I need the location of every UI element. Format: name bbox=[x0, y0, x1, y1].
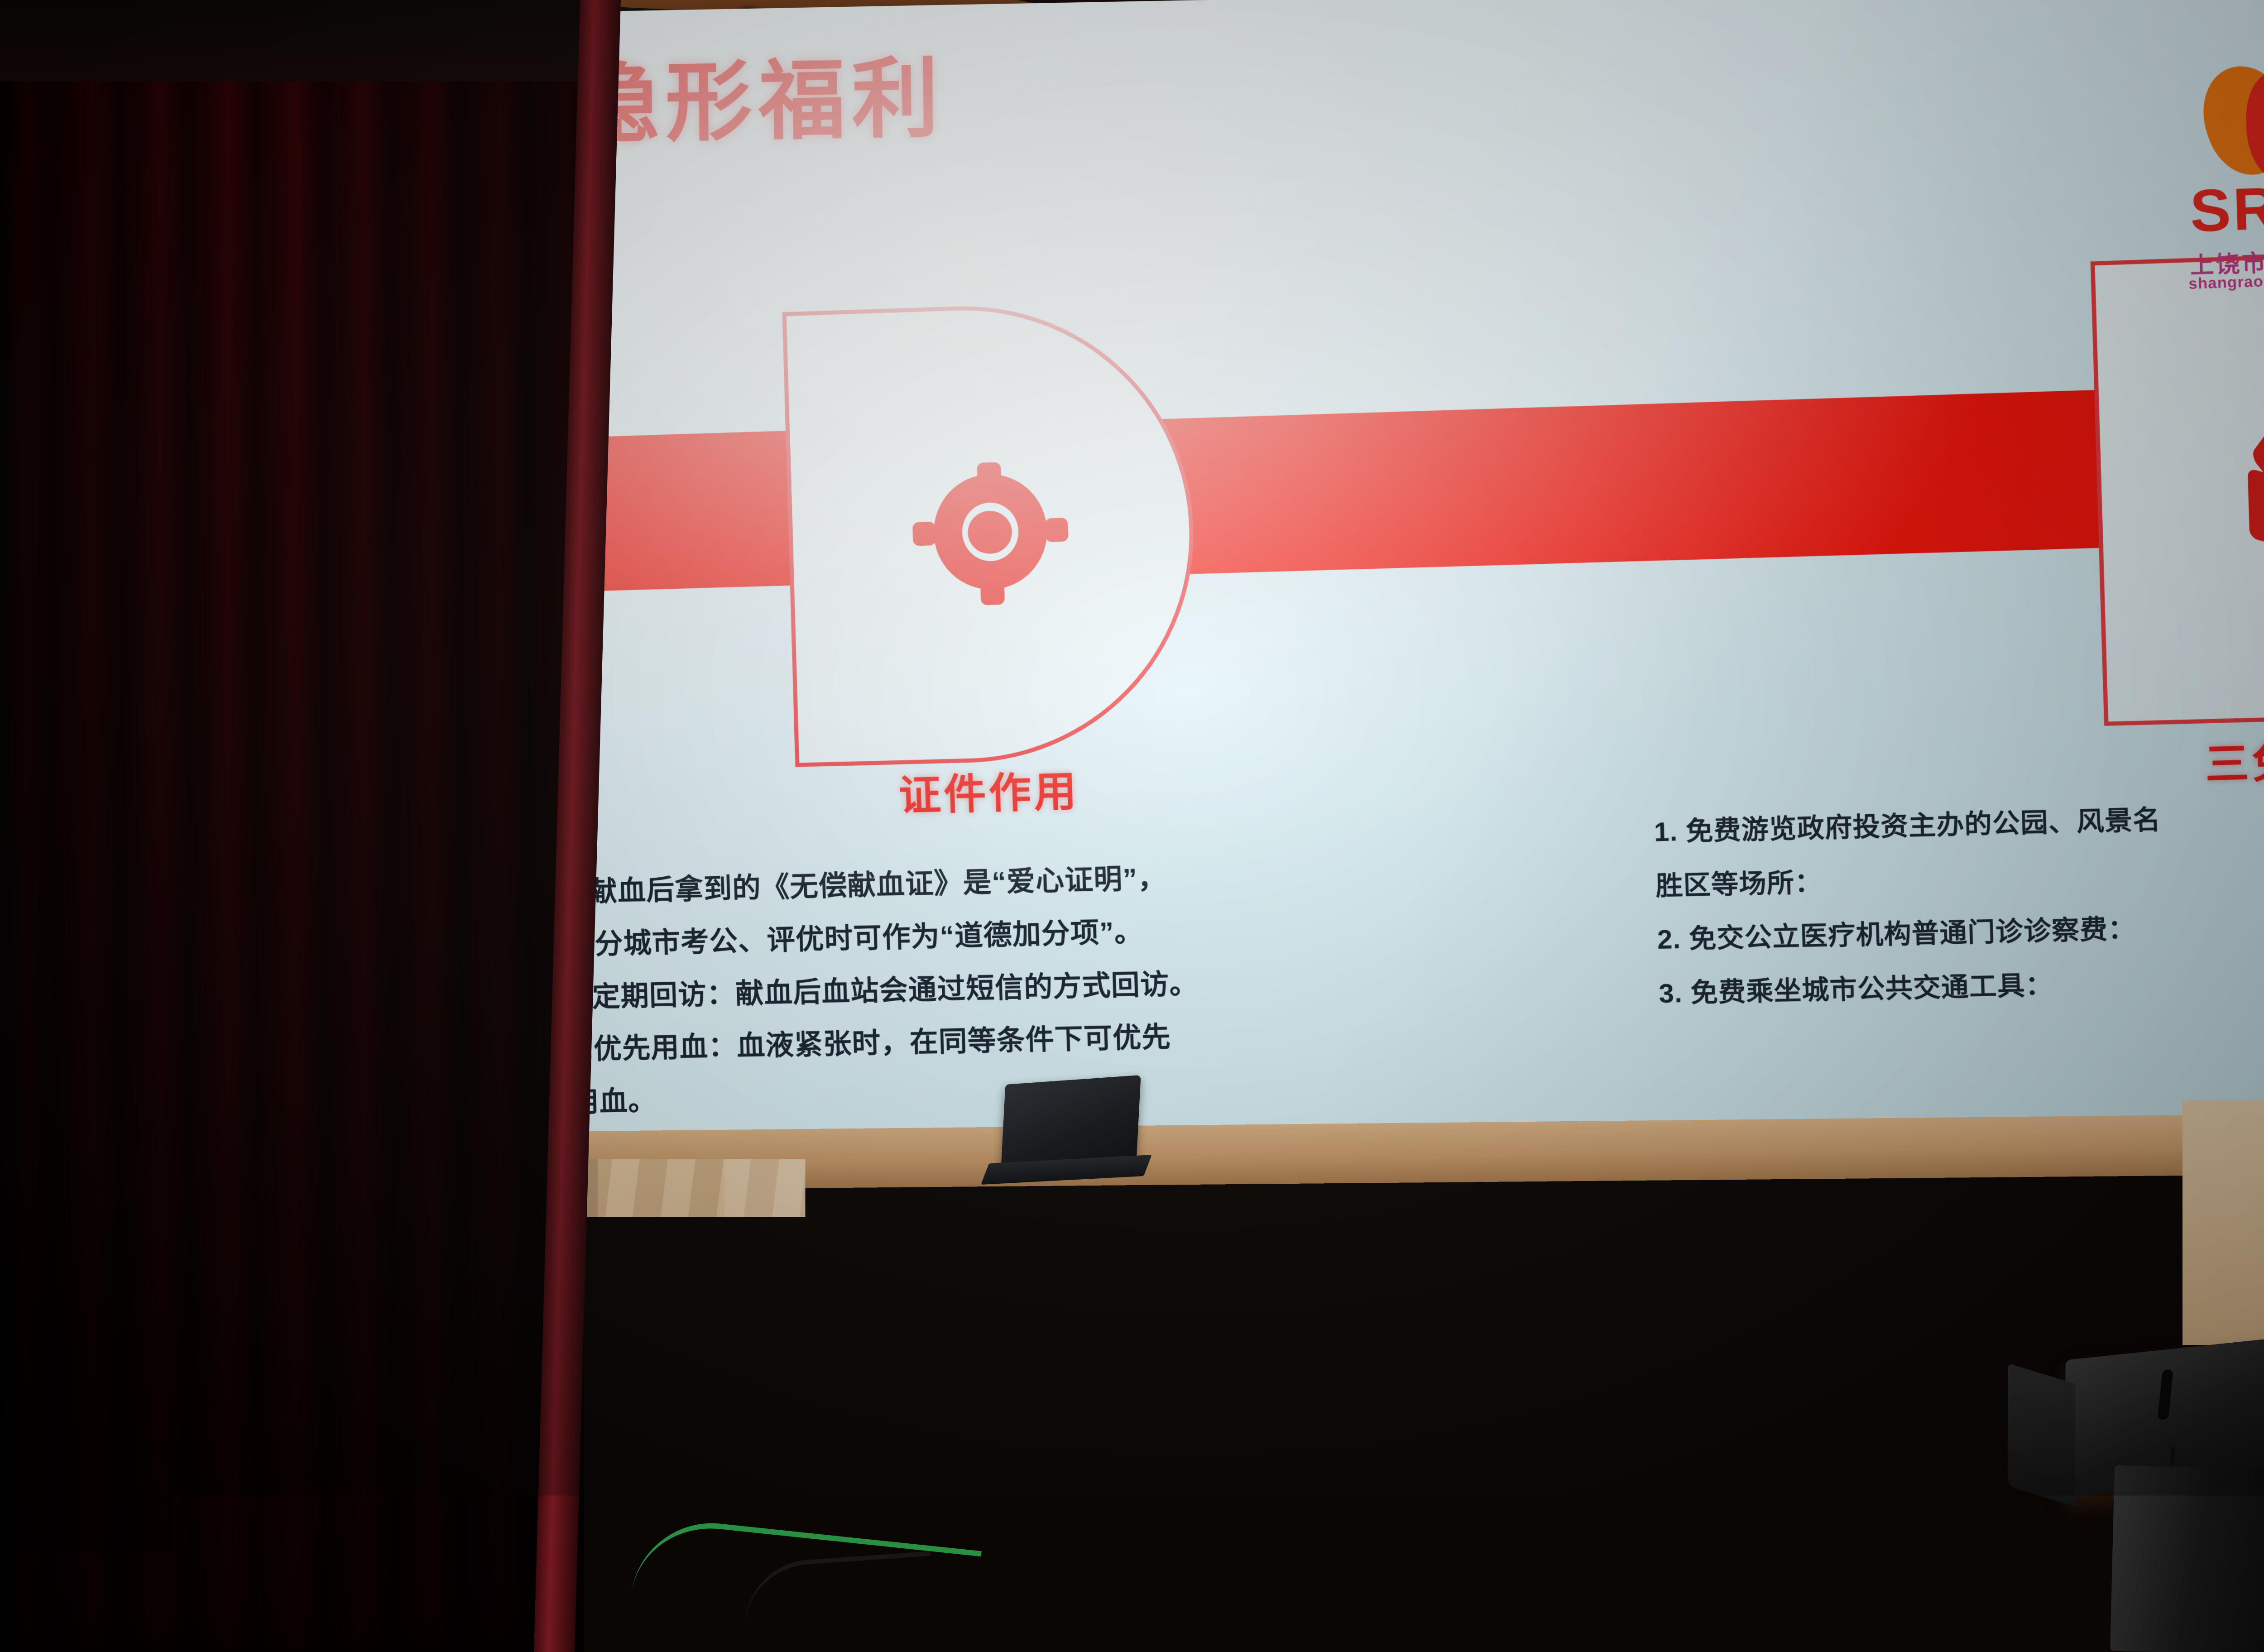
body-line: 1.献血后拿到的《无偿献血证》是“爱心证明”， bbox=[564, 850, 1584, 911]
logo-acronym: SRBS bbox=[2175, 175, 2264, 242]
curtain-shading bbox=[0, 0, 584, 1652]
red-arrow-band bbox=[481, 383, 2264, 595]
section-badge-right bbox=[2091, 247, 2264, 726]
cube-icon bbox=[2239, 418, 2264, 557]
body-line: 1. 免费游览政府投资主办的公园、风景名 bbox=[1654, 797, 2264, 850]
body-line: 部分城市考公、评优时可作为“道德加分项”。 bbox=[566, 903, 1585, 964]
subwoofer-speaker bbox=[2110, 1465, 2264, 1652]
photo-scene: 隐形福利 bbox=[0, 0, 2264, 1652]
body-line: 2. 免交公立医疗机构普通门诊诊察费： bbox=[1657, 906, 2264, 957]
curtain-header bbox=[0, 0, 584, 82]
section-heading-right: 三免政策 bbox=[2204, 725, 2264, 792]
slide-title: 隐形福利 bbox=[572, 55, 945, 148]
body-line: 胜区等场所： bbox=[1655, 852, 2264, 904]
body-line: 3. 免费乘坐城市公共交通工具： bbox=[1658, 961, 2264, 1012]
section-badge-left bbox=[782, 299, 1200, 767]
target-icon bbox=[922, 472, 1059, 595]
back-wall bbox=[2182, 1100, 2264, 1345]
heart-logo-icon bbox=[2199, 58, 2264, 181]
section-heading-left: 证件作用 bbox=[898, 757, 1080, 822]
section-body-right: 1. 免费游览政府投资主办的公园、风景名 胜区等场所： 2. 免交公立医疗机构普… bbox=[1654, 797, 2264, 1030]
srbs-logo: SRBS 上饶市中心血站 shangrao blood station bbox=[2172, 58, 2264, 312]
speaker-handle-icon bbox=[2158, 1369, 2173, 1420]
